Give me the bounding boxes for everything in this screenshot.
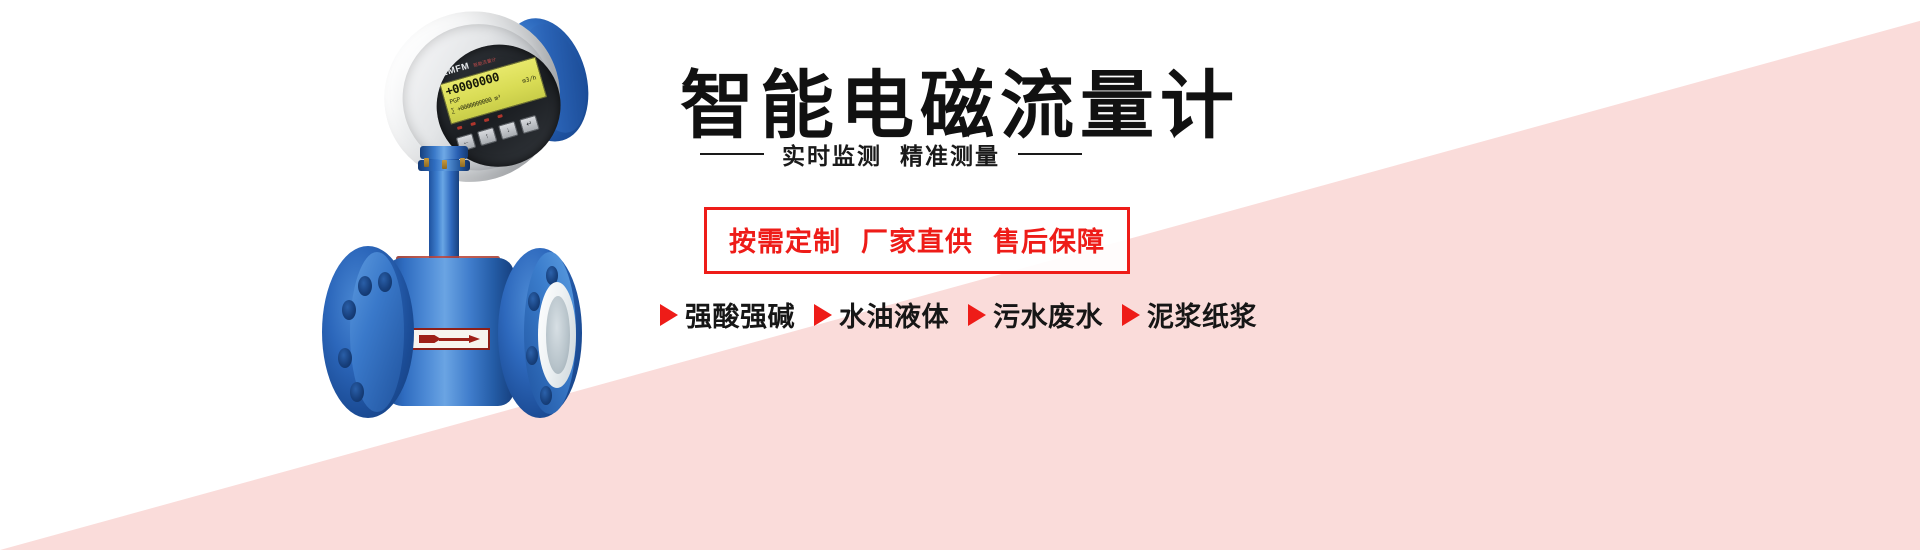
ptfe-liner-bore xyxy=(546,296,570,374)
flange-bolt-hole xyxy=(338,348,352,368)
neck-bolt xyxy=(442,160,447,169)
arrow-line xyxy=(439,338,471,341)
subtitle-row: 实时监测 精准测量 xyxy=(700,137,1082,171)
feature-item: 水油液体 xyxy=(814,295,949,334)
led-indicator xyxy=(484,118,490,122)
triangle-right-icon xyxy=(968,304,986,326)
neck-bolt xyxy=(460,158,465,167)
feature-label: 泥浆纸浆 xyxy=(1147,295,1257,334)
keypad[interactable]: ← ↑ ↓ ↵ xyxy=(456,115,540,152)
triangle-right-icon xyxy=(660,304,678,326)
flange-bolt-hole xyxy=(528,292,540,311)
flange-bolt-hole xyxy=(526,346,538,365)
promo-item-2: 厂家直供 xyxy=(861,227,973,257)
subtitle-left: 实时监测 xyxy=(782,137,882,171)
feature-label: 水油液体 xyxy=(839,295,949,334)
product-banner: EMFM 智能流量计 +0000000 PGP m3/h ∑ +00000000… xyxy=(0,0,1920,550)
triangle-right-icon xyxy=(814,304,832,326)
flowmeter-product-image: EMFM 智能流量计 +0000000 PGP m3/h ∑ +00000000… xyxy=(300,0,720,460)
keypad-button-up[interactable]: ↑ xyxy=(477,127,497,146)
neck-bolt xyxy=(424,158,429,167)
feature-list: 强酸强碱 水油液体 污水废水 泥浆纸浆 xyxy=(660,295,1266,334)
subtitle-right: 精准测量 xyxy=(900,137,1000,171)
brand-subtitle: 智能流量计 xyxy=(473,57,497,69)
rule-left xyxy=(700,153,764,155)
rule-right xyxy=(1018,153,1082,155)
flange-bolt-hole xyxy=(358,276,372,296)
transmitter-head: EMFM 智能流量计 +0000000 PGP m3/h ∑ +00000000… xyxy=(358,0,598,207)
led-indicator xyxy=(470,122,476,126)
feature-item: 泥浆纸浆 xyxy=(1122,295,1257,334)
led-indicator xyxy=(497,114,503,118)
arrow-head xyxy=(469,335,480,343)
promo-badge: 按需定制厂家直供售后保障 xyxy=(704,207,1130,274)
feature-label: 强酸强碱 xyxy=(685,295,795,334)
keypad-button-down[interactable]: ↓ xyxy=(498,121,518,140)
flange-bolt-hole xyxy=(350,382,364,402)
flange-bolt-hole xyxy=(342,300,356,320)
flange-bolt-hole xyxy=(378,272,392,292)
promo-item-3: 售后保障 xyxy=(993,227,1105,257)
led-indicator xyxy=(457,126,463,130)
feature-item: 强酸强碱 xyxy=(660,295,795,334)
flange-bolt-hole xyxy=(540,386,552,405)
triangle-right-icon xyxy=(1122,304,1140,326)
flow-direction-label xyxy=(410,328,490,350)
banner-content: 智能电磁流量计 实时监测 精准测量 按需定制厂家直供售后保障 强酸强碱 水油液体… xyxy=(660,0,1840,550)
flow-arrow-icon xyxy=(419,334,481,344)
feature-label: 污水废水 xyxy=(993,295,1103,334)
promo-item-1: 按需定制 xyxy=(729,227,841,257)
feature-item: 污水废水 xyxy=(968,295,1103,334)
keypad-button-enter[interactable]: ↵ xyxy=(519,115,539,134)
arrow-tail xyxy=(419,335,441,343)
